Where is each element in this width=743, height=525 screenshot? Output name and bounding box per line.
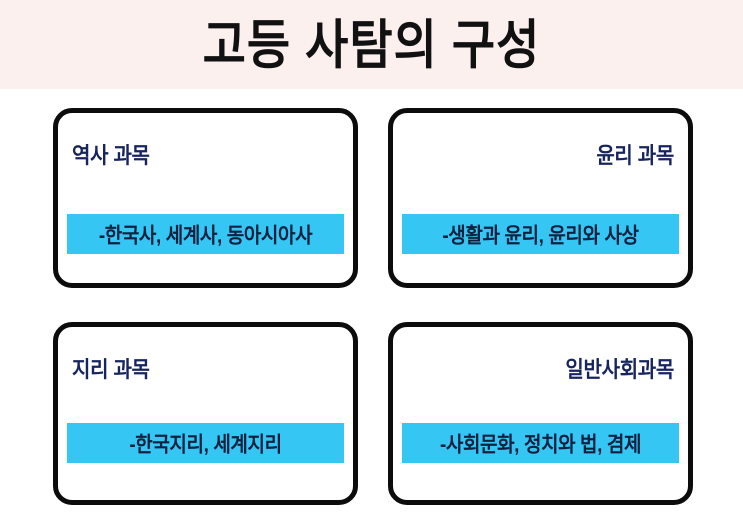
highlight-band-history: -한국사, 세계사, 동아시아사 [67, 214, 344, 254]
card-heading-ethics: 윤리 과목 [407, 138, 674, 170]
highlight-band-geography: -한국지리, 세계지리 [67, 423, 344, 463]
subject-list-geography: -한국지리, 세계지리 [129, 428, 281, 458]
subject-list-ethics: -생활과 윤리, 윤리와 사상 [442, 219, 638, 249]
subject-card-history: 역사 과목 -한국사, 세계사, 동아시아사 [53, 108, 358, 288]
subject-list-general-social: -사회문화, 정치와 법, 겸제 [440, 428, 641, 458]
title-band: 고등 사탐의 구성 [0, 0, 743, 89]
highlight-band-ethics: -생활과 윤리, 윤리와 사상 [402, 214, 679, 254]
subject-card-ethics: 윤리 과목 -생활과 윤리, 윤리와 사상 [388, 108, 693, 288]
page-title: 고등 사탐의 구성 [203, 18, 541, 71]
highlight-band-general-social: -사회문화, 정치와 법, 겸제 [402, 423, 679, 463]
card-heading-general-social: 일반사회과목 [407, 352, 674, 384]
subject-list-history: -한국사, 세계사, 동아시아사 [99, 219, 312, 249]
subject-card-grid: 역사 과목 -한국사, 세계사, 동아시아사 윤리 과목 -생활과 윤리, 윤리… [53, 108, 693, 508]
card-heading-geography: 지리 과목 [72, 352, 339, 384]
subject-card-geography: 지리 과목 -한국지리, 세계지리 [53, 322, 358, 505]
card-heading-history: 역사 과목 [72, 138, 339, 170]
subject-card-general-social: 일반사회과목 -사회문화, 정치와 법, 겸제 [388, 322, 693, 505]
